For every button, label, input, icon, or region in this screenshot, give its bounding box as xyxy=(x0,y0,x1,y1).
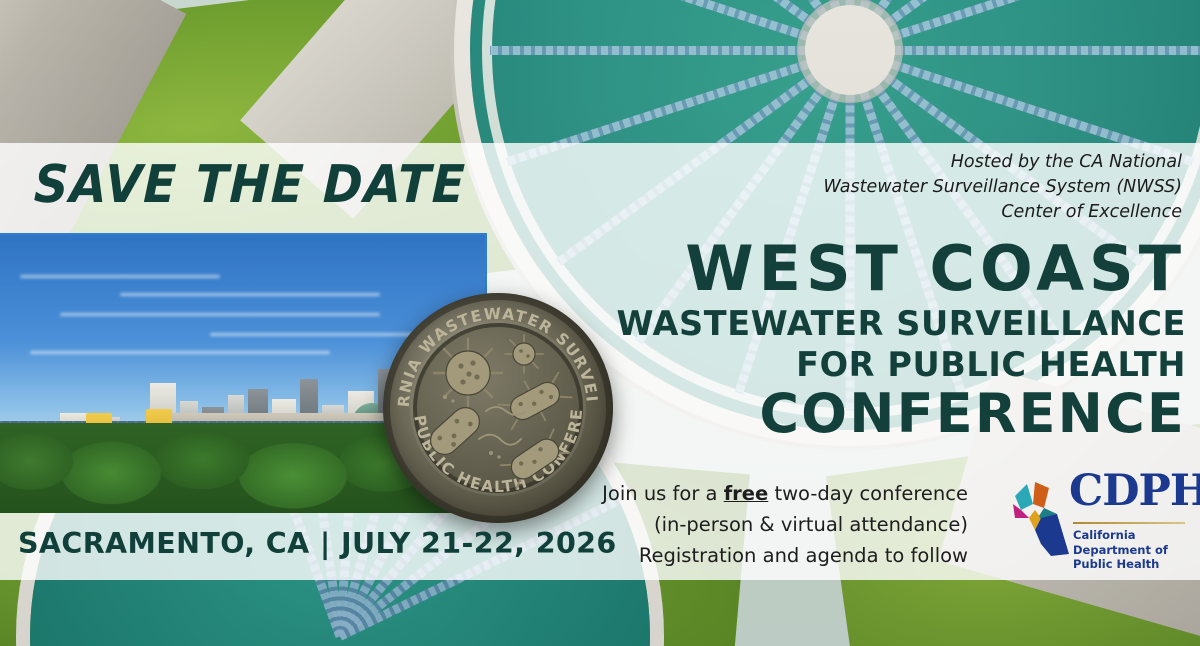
details-line-2: (in-person & virtual attendance) xyxy=(602,510,968,541)
cdph-name-line-2: Public Health xyxy=(1073,557,1159,571)
hosted-by-line-2: Wastewater Surveillance System (NWSS) xyxy=(823,175,1182,200)
hosted-by-line-3: Center of Excellence xyxy=(823,200,1182,225)
title-line-west-coast: WEST COAST xyxy=(616,238,1186,300)
details-line-1-before: Join us for a xyxy=(602,482,724,505)
conference-title: WEST COAST WASTEWATER SURVEILLANCE FOR P… xyxy=(616,238,1186,443)
conference-details-text: Join us for a free two-day conference (i… xyxy=(602,479,968,571)
free-emphasis: free xyxy=(724,482,769,505)
title-line-for-public-health: FOR PUBLIC HEALTH xyxy=(616,345,1186,386)
hosted-by-text: Hosted by the CA National Wastewater Sur… xyxy=(823,150,1182,225)
california-state-icon xyxy=(1011,474,1073,558)
hosted-by-line-1: Hosted by the CA National xyxy=(823,150,1182,175)
small-virus-glyph xyxy=(505,335,543,373)
title-line-wastewater-surveillance: WASTEWATER SURVEILLANCE xyxy=(616,304,1186,345)
cdph-name-line-1: California Department of xyxy=(1073,528,1168,557)
logo-divider xyxy=(1073,522,1185,524)
details-line-3: Registration and agenda to follow xyxy=(602,541,968,572)
details-line-1: Join us for a free two-day conference xyxy=(602,479,968,510)
rod-bacterium-glyph xyxy=(495,366,576,437)
cdph-acronym: CDPH xyxy=(1069,470,1200,513)
details-line-1-after: two-day conference xyxy=(768,482,968,505)
event-flyer: SAVE THE DATE Hosted by the CA National … xyxy=(0,0,1200,646)
title-line-conference: CONFERENCE xyxy=(616,384,1186,443)
cdph-full-name: California Department of Public Health xyxy=(1073,528,1191,572)
save-the-date-heading: SAVE THE DATE xyxy=(33,155,467,215)
location-and-date: SACRAMENTO, CA | JULY 21-22, 2026 xyxy=(18,527,617,560)
cdph-logo: CDPH California Department of Public Hea… xyxy=(1011,472,1186,564)
wastewater-seal-icon: CALIFORNIA WASTEWATER SURVEILLANCE FOR P… xyxy=(383,293,613,523)
